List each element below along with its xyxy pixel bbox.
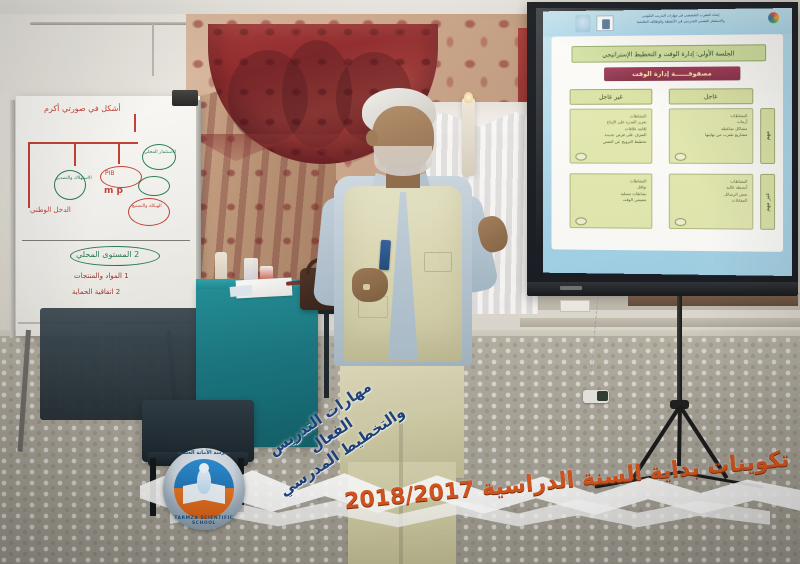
training-session-photograph: أشكل في صورتي أكرم PIB m p الاستهلاك وال…: [0, 0, 800, 564]
flipchart-oval-4: [138, 176, 170, 196]
school-logo: مدرسة الأمانة العلمية TARMZA SCIENTIFIC …: [163, 448, 245, 530]
quadrant-not-urgent-not-important: النشاطات نوافل نشاطات مسلية مضيعي الوقت: [570, 173, 653, 228]
matrix-banner-box: مصفوفــــــة إدارة الوقت: [604, 66, 740, 81]
presenter-ear: [366, 130, 378, 146]
quadrant-urgent-not-important-lines: النشاطات أنشطة غالبة بعض الرسائل المقابل…: [724, 179, 747, 205]
q2-line-4: تخطيط الترويح عن النفس: [603, 139, 647, 145]
q1-line-3: مشاريع تقترب من نهايتها: [705, 132, 747, 138]
column-header-not-urgent: غير عاجل: [570, 89, 653, 105]
column-header-not-urgent-label: غير عاجل: [599, 93, 623, 100]
row-label-not-important-text: غير مهم: [765, 192, 771, 211]
flipchart-note-5: الدخل الوطني: [30, 206, 71, 214]
quadrant-not-urgent-important: النشاطات تعزيز القدرة على الإنتاج إقامة …: [570, 108, 653, 163]
quadrant-bubble-icon: [675, 153, 687, 161]
quadrant-urgent-important-lines: النشاطات أزمات مشاكل ضاغطة مشاريع تقترب …: [705, 113, 747, 139]
candle-lamp: [462, 98, 475, 176]
flipchart-clip: [172, 90, 198, 106]
slide-session-title-box: الجلسة الأولى: إدارة الوقت و التخطيط الإ…: [572, 44, 767, 63]
flipchart-note-1: PIB: [105, 170, 115, 177]
flipchart-stroke-1: [134, 114, 136, 132]
flipchart-note-2: الاستهلاك والتصدير: [56, 176, 92, 182]
blue-marker-pen: [379, 240, 391, 271]
logo-top-text: مدرسة الأمانة العلمية: [163, 450, 245, 456]
quadrant-not-urgent-not-important-lines: النشاطات نوافل نشاطات مسلية مضيعي الوقت: [620, 178, 646, 203]
presenter-vest-pocket-upper: [424, 252, 452, 272]
screen-brand-label: [560, 286, 582, 290]
flipchart-note-6: 2 المستوى المحلي: [76, 250, 139, 259]
curtain-rod-drop: [152, 24, 154, 76]
column-header-urgent-label: عاجل: [704, 93, 718, 100]
flipchart-heading: أشكل في صورتي أكرم: [44, 104, 121, 113]
flipchart-note-7: 1 المواد والمنتجات: [74, 272, 129, 280]
q2-line-3: التعرف على فرص جديدة: [603, 132, 647, 138]
color-wheel-icon: [768, 12, 779, 23]
flipchart-paper: [16, 96, 200, 336]
flipchart-stroke-2: [28, 142, 138, 144]
flipchart-stroke-3: [28, 142, 30, 208]
flipchart-note-8: 2 اتفاقية الحماية: [72, 288, 120, 296]
row-label-important-text: مهم: [765, 131, 771, 140]
power-adapter: [583, 390, 609, 403]
quadrant-bubble-icon: [675, 218, 687, 226]
quadrant-bubble-icon: [575, 217, 586, 225]
q3-line-1: أنشطة غالبة: [724, 185, 747, 191]
quadrant-urgent-not-important: النشاطات أنشطة غالبة بعض الرسائل المقابل…: [669, 174, 753, 230]
flipchart-oval-2: [54, 170, 86, 200]
institution-logo-icon: [575, 15, 590, 33]
power-cable: [589, 297, 681, 400]
quadrant-bubble-icon: [575, 153, 586, 161]
logo-head-dot-icon: [199, 463, 209, 473]
flipchart-stroke-5: [118, 142, 120, 164]
flipchart-stroke-4: [74, 142, 76, 166]
flipchart-note-mp: m p: [104, 186, 123, 196]
presenter-ring: [363, 284, 370, 290]
matrix-banner-text: مصفوفــــــة إدارة الوقت: [632, 70, 712, 78]
flipchart-oval-5: [128, 198, 170, 226]
q4-line-3: مضيعي الوقت: [620, 197, 646, 203]
paper-secondary: [230, 285, 253, 297]
ministry-logo-icon: [596, 15, 613, 31]
quadrant-not-urgent-important-lines: النشاطات تعزيز القدرة على الإنتاج إقامة …: [603, 113, 647, 145]
chair-right-leg-b: [324, 312, 329, 398]
q3-line-3: المقابلات: [724, 198, 747, 205]
flipchart-note-3: الاستثمار المحلي: [144, 150, 176, 156]
presenter-beard: [374, 146, 432, 176]
row-label-not-important: غير مهم: [760, 174, 775, 230]
tripod-pole: [677, 296, 682, 408]
wall-socket: [560, 300, 590, 312]
flipchart-note-4: الهيكلة والتصنيع: [132, 204, 162, 210]
column-header-urgent: عاجل: [669, 88, 753, 104]
logo-bottom-text: TARMZA SCIENTIFIC SCHOOL: [163, 516, 245, 526]
flipchart-divider-rule: [22, 240, 190, 241]
presenter-hand-left: [352, 268, 388, 302]
candle-flame: [464, 92, 473, 103]
chair-leg-front-left: [150, 458, 156, 516]
flipchart-frame-left: [10, 100, 15, 338]
quadrant-urgent-important: النشاطات أزمات مشاكل ضاغطة مشاريع تقترب …: [669, 108, 753, 164]
q2-line-1: تعزيز القدرة على الإنتاج: [603, 120, 647, 126]
slide-header-text: إعداد المقرب التخصصي في مهارات التدريب ا…: [618, 12, 745, 25]
presentation-slide: إعداد المقرب التخصصي في مهارات التدريب ا…: [543, 8, 792, 276]
slide-session-title: الجلسة الأولى: إدارة الوقت و التخطيط الإ…: [602, 49, 734, 58]
flipchart-oval-3: [142, 144, 176, 170]
row-label-important: مهم: [760, 108, 775, 164]
